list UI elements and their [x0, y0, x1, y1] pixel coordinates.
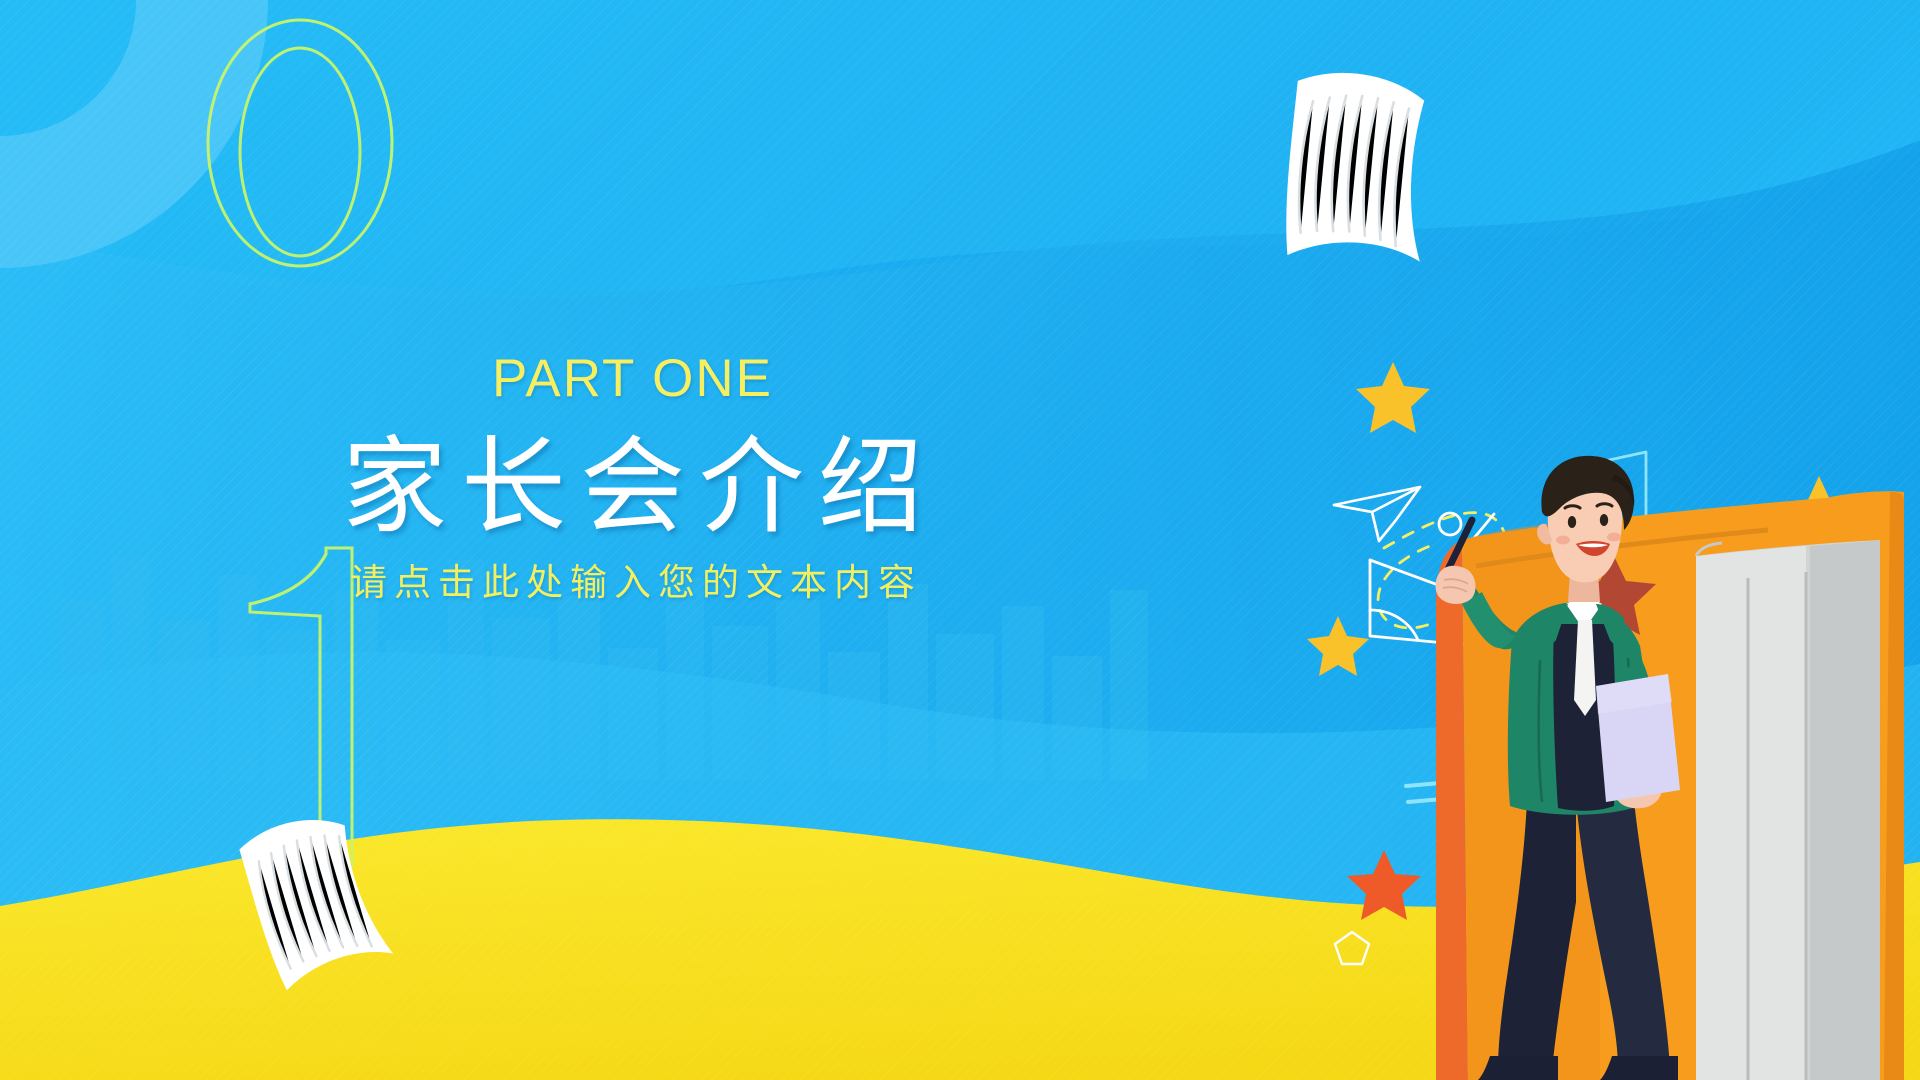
- slide-text-block: PART ONE 家长会介绍 请点击此处输入您的文本内容: [0, 352, 1265, 601]
- section-label: PART ONE: [0, 352, 1265, 405]
- slide-subtitle: 请点击此处输入您的文本内容: [0, 564, 1265, 601]
- page-title: 家长会介绍: [0, 431, 1265, 544]
- presentation-slide: PART ONE 家长会介绍 请点击此处输入您的文本内容: [0, 0, 1920, 1080]
